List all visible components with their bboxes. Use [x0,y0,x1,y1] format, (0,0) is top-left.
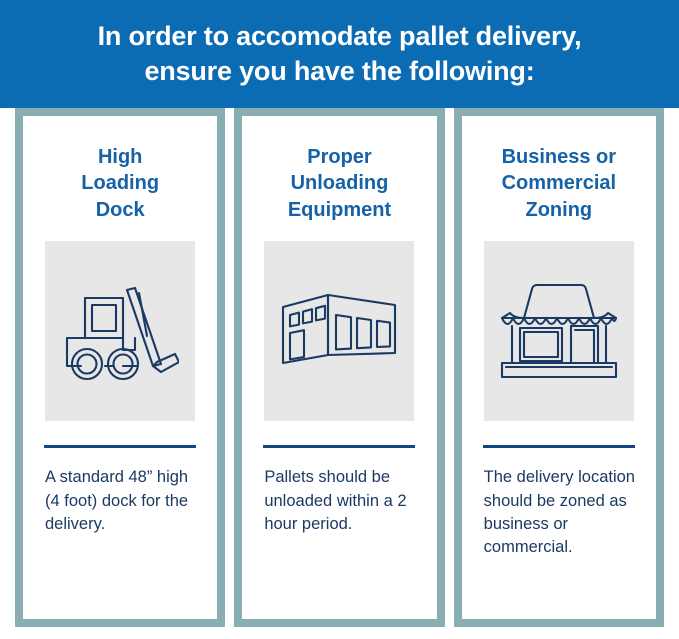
requirement-column-proper-unloading-equipment: Proper Unloading Equipment [234,108,444,627]
requirement-column-business-commercial-zoning: Business or Commercial Zoning [454,108,664,627]
requirement-card: Proper Unloading Equipment [242,116,436,619]
header-title-line-2: ensure you have the following: [144,54,534,89]
card-title-high-loading-dock: High Loading Dock [81,144,159,223]
card-title-line-1: Business or [502,144,617,170]
card-title-line-3: Dock [81,197,159,223]
card-title-line-3: Zoning [502,197,617,223]
requirements-columns: High Loading Dock [0,108,679,639]
pallet-delivery-infographic: In order to accomodate pallet delivery, … [0,0,679,639]
forklift-icon [61,276,179,386]
header-title-line-1: In order to accomodate pallet delivery, [98,19,582,54]
card-body-business-commercial-zoning: The delivery location should be zoned as… [476,466,642,560]
icon-panel [264,241,414,421]
card-title-business-commercial-zoning: Business or Commercial Zoning [502,144,617,223]
card-title-proper-unloading-equipment: Proper Unloading Equipment [288,144,391,223]
card-title-line-1: Proper [288,144,391,170]
card-title-line-1: High [81,144,159,170]
card-title-line-2: Unloading [288,170,391,196]
requirement-card: High Loading Dock [23,116,217,619]
icon-panel [45,241,195,421]
icon-panel [484,241,634,421]
storefront-icon [498,281,620,381]
card-divider [263,445,415,448]
card-title-line-2: Commercial [502,170,617,196]
card-divider [44,445,196,448]
card-body-proper-unloading-equipment: Pallets should be unloaded within a 2 ho… [256,466,422,536]
card-divider [483,445,635,448]
card-title-line-2: Loading [81,170,159,196]
card-body-high-loading-dock: A standard 48” high (4 foot) dock for th… [37,466,203,536]
warehouse-building-icon [279,291,399,371]
header-banner: In order to accomodate pallet delivery, … [0,0,679,108]
requirement-column-high-loading-dock: High Loading Dock [15,108,225,627]
card-title-line-3: Equipment [288,197,391,223]
requirement-card: Business or Commercial Zoning [462,116,656,619]
